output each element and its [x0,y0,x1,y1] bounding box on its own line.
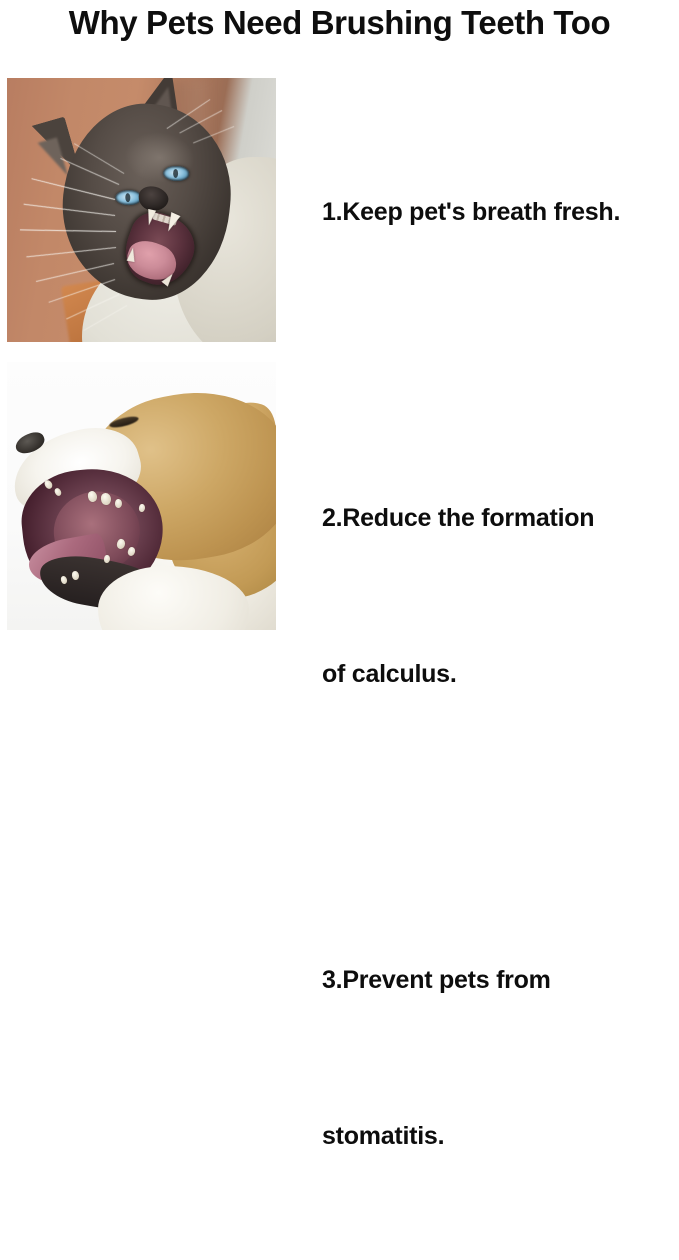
dog-tooth [71,571,79,581]
cat-open-mouth [117,206,204,295]
list-item-line: 1.Keep pet's breath fresh. [322,186,679,238]
list-item-line: of calculus. [322,648,679,700]
infographic-page: Why Pets Need Brushing Teeth Too [0,0,679,630]
page-title: Why Pets Need Brushing Teeth Too [0,0,679,56]
dog-scene [7,362,276,630]
list-item: 3.Prevent pets from stomatitis. [322,850,679,1260]
cat-scene [7,78,276,342]
benefits-list: 1.Keep pet's breath fresh. 2.Reduce the … [322,82,679,1260]
list-item-line: stomatitis. [322,1110,679,1162]
dog-tooth [114,498,122,507]
cat-photo [7,78,276,342]
list-item: 1.Keep pet's breath fresh. [322,82,679,342]
dog-photo [7,362,276,630]
list-item-line: 3.Prevent pets from [322,954,679,1006]
list-item: 2.Reduce the formation of calculus. [322,388,679,804]
list-item-line: 2.Reduce the formation [322,492,679,544]
cat-pupil-right [173,169,178,178]
cat-pupil-left [125,193,130,202]
cat-eye-right [163,166,189,181]
